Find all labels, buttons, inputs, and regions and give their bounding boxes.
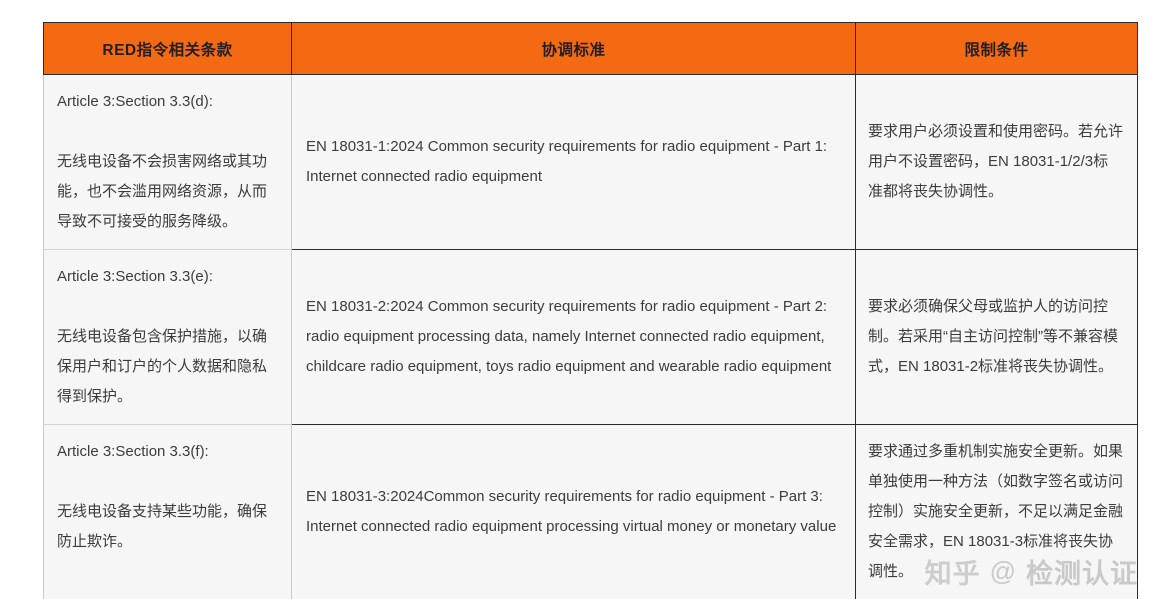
cell-standard: EN 18031-3:2024Common security requireme…: [292, 425, 856, 599]
table-row: Article 3:Section 3.3(d):无线电设备不会损害网络或其功能…: [44, 75, 1138, 250]
header-restrictions: 限制条件: [856, 23, 1138, 75]
page-root: RED指令相关条款 协调标准 限制条件 Article 3:Section 3.…: [0, 0, 1150, 599]
table-row: Article 3:Section 3.3(f):无线电设备支持某些功能，确保防…: [44, 425, 1138, 599]
clause-text: 无线电设备包含保护措施，以确保用户和订户的个人数据和隐私得到保护。: [57, 322, 277, 412]
cell-restriction: 要求用户必须设置和使用密码。若允许用户不设置密码，EN 18031-1/2/3标…: [856, 75, 1138, 250]
clause-title: Article 3:Section 3.3(e):: [57, 262, 277, 292]
clause-title: Article 3:Section 3.3(d):: [57, 87, 277, 117]
table-row: Article 3:Section 3.3(e):无线电设备包含保护措施，以确保…: [44, 250, 1138, 425]
cell-clause: Article 3:Section 3.3(e):无线电设备包含保护措施，以确保…: [44, 250, 292, 425]
clause-text: 无线电设备不会损害网络或其功能，也不会滥用网络资源，从而导致不可接受的服务降级。: [57, 147, 277, 237]
clause-title: Article 3:Section 3.3(f):: [57, 437, 277, 467]
table-header-row: RED指令相关条款 协调标准 限制条件: [44, 23, 1138, 75]
cell-clause: Article 3:Section 3.3(d):无线电设备不会损害网络或其功能…: [44, 75, 292, 250]
header-red-clause: RED指令相关条款: [44, 23, 292, 75]
red-standards-table-container: RED指令相关条款 协调标准 限制条件 Article 3:Section 3.…: [43, 22, 1137, 575]
clause-text: 无线电设备支持某些功能，确保防止欺诈。: [57, 497, 277, 557]
cell-standard: EN 18031-1:2024 Common security requirem…: [292, 75, 856, 250]
cell-restriction: 要求必须确保父母或监护人的访问控制。若采用“自主访问控制”等不兼容模式，EN 1…: [856, 250, 1138, 425]
table-body: Article 3:Section 3.3(d):无线电设备不会损害网络或其功能…: [44, 75, 1138, 599]
table-header: RED指令相关条款 协调标准 限制条件: [44, 23, 1138, 75]
cell-clause: Article 3:Section 3.3(f):无线电设备支持某些功能，确保防…: [44, 425, 292, 599]
red-standards-table: RED指令相关条款 协调标准 限制条件 Article 3:Section 3.…: [43, 22, 1138, 599]
cell-standard: EN 18031-2:2024 Common security requirem…: [292, 250, 856, 425]
cell-restriction: 要求通过多重机制实施安全更新。如果单独使用一种方法（如数字签名或访问控制）实施安…: [856, 425, 1138, 599]
header-harmonised-standard: 协调标准: [292, 23, 856, 75]
